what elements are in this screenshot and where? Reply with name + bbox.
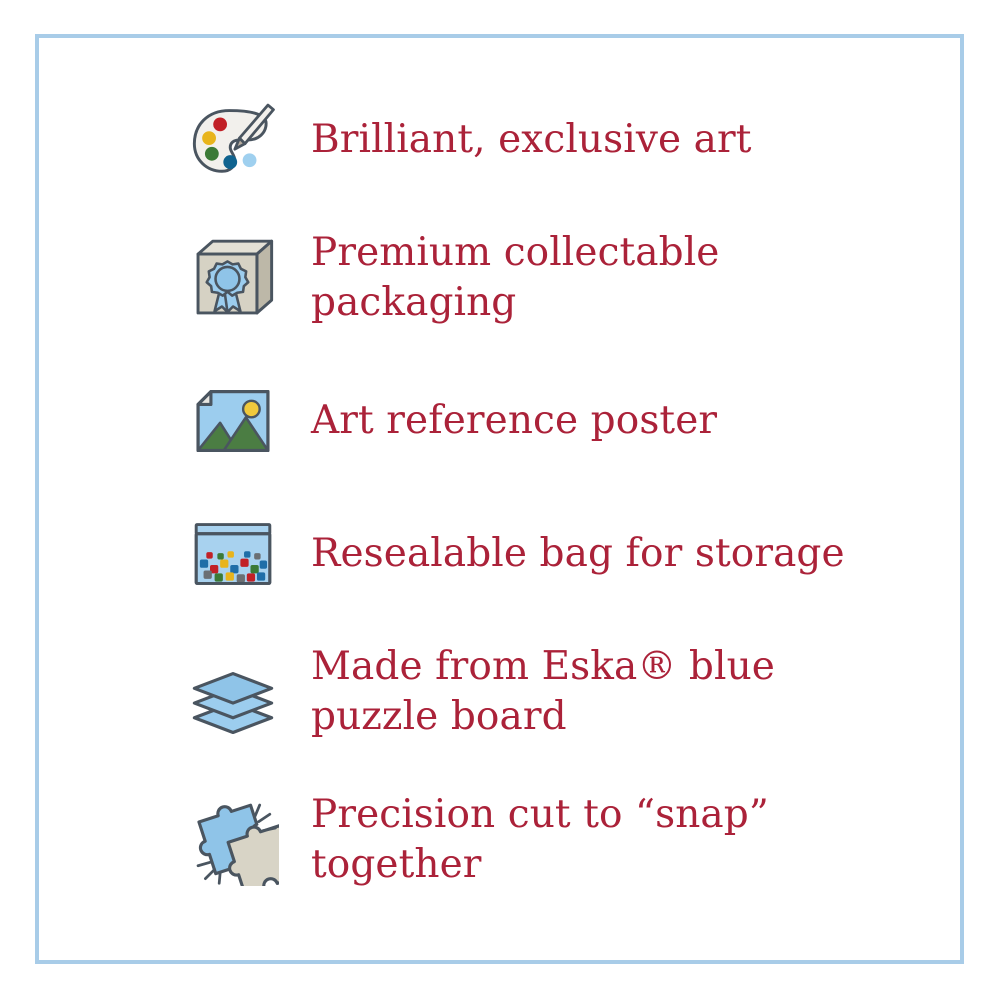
- feature-row: Art reference poster: [39, 352, 960, 490]
- feature-row: Precision cut to “snap” together: [39, 766, 960, 914]
- paint-palette-icon: [179, 86, 287, 194]
- feature-label: Brilliant, exclusive art: [287, 115, 960, 165]
- resealable-bag-icon: [179, 500, 287, 608]
- feature-label: Art reference poster: [287, 396, 960, 446]
- snap-puzzle-pieces-icon: [179, 786, 287, 894]
- feature-label: Made from Eska® blue puzzle board: [287, 642, 960, 741]
- feature-card: Brilliant, exclusive art: [35, 34, 964, 964]
- feature-row: Premium collectable packaging: [39, 204, 960, 352]
- feature-list: Brilliant, exclusive art: [39, 38, 960, 960]
- feature-label: Resealable bag for storage: [287, 529, 960, 579]
- feature-row: Resealable bag for storage: [39, 490, 960, 618]
- feature-row: Made from Eska® blue puzzle board: [39, 618, 960, 766]
- feature-label: Precision cut to “snap” together: [287, 790, 960, 889]
- feature-row: Brilliant, exclusive art: [39, 76, 960, 204]
- puzzle-board-layers-icon: [179, 638, 287, 746]
- feature-label: Premium collectable packaging: [287, 228, 960, 327]
- art-poster-icon: [179, 367, 287, 475]
- premium-box-icon: [179, 224, 287, 332]
